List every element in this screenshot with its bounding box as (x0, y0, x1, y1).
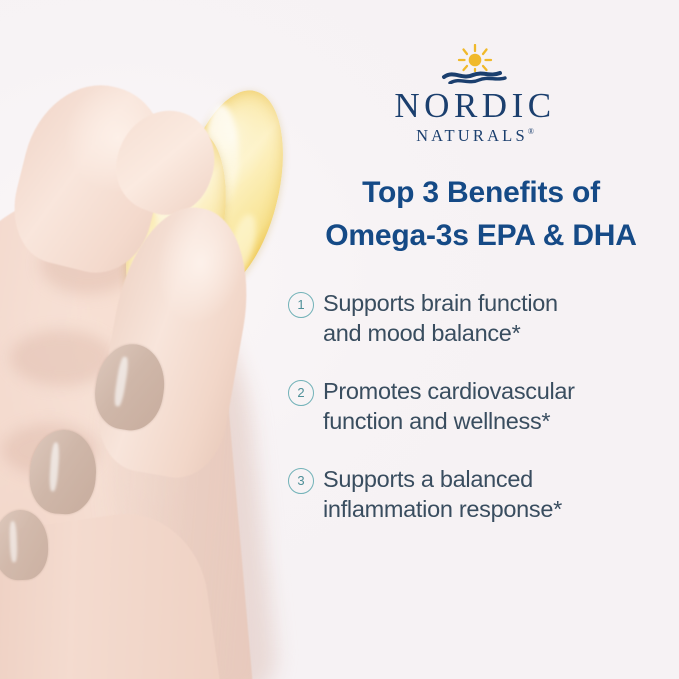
benefit-1-line-1: Supports brain function (323, 288, 668, 318)
headline-line-1: Top 3 Benefits of (292, 172, 670, 215)
benefit-item-3: 3 Supports a balanced inflammation respo… (288, 464, 668, 524)
logo-nordic-text: NORDIC (360, 88, 590, 124)
registered-mark: ® (528, 127, 534, 136)
brand-logo: NORDIC NATURALS® (360, 44, 590, 145)
headline-line-2: Omega-3s EPA & DHA (292, 215, 670, 258)
sun-and-wave-icon (438, 44, 512, 84)
benefit-3-line-1: Supports a balanced (323, 464, 668, 494)
product-photo (0, 0, 300, 679)
wave-lower-icon (450, 78, 505, 83)
page-title: Top 3 Benefits of Omega-3s EPA & DHA (292, 172, 670, 257)
benefit-2-line-1: Promotes cardiovascular (323, 376, 668, 406)
benefit-1-line-2: and mood balance* (323, 318, 668, 348)
benefit-item-1: 1 Supports brain function and mood balan… (288, 288, 668, 348)
benefit-text-3: Supports a balanced inflammation respons… (323, 464, 668, 524)
sun-disc-icon (469, 54, 482, 67)
benefit-number-badge-2: 2 (288, 380, 314, 406)
benefit-3-line-2: inflammation response* (323, 494, 668, 524)
promo-image-canvas: NORDIC NATURALS® Top 3 Benefits of Omega… (0, 0, 679, 679)
benefit-number-badge-1: 1 (288, 292, 314, 318)
benefit-text-2: Promotes cardiovascular function and wel… (323, 376, 668, 436)
benefit-text-1: Supports brain function and mood balance… (323, 288, 668, 348)
logo-naturals-word: NATURALS (416, 126, 528, 145)
wave-upper-icon (444, 73, 500, 77)
benefits-list: 1 Supports brain function and mood balan… (288, 288, 668, 524)
logo-naturals-text: NATURALS® (360, 127, 590, 145)
benefit-item-2: 2 Promotes cardiovascular function and w… (288, 376, 668, 436)
benefit-2-line-2: function and wellness* (323, 406, 668, 436)
benefit-number-badge-3: 3 (288, 468, 314, 494)
